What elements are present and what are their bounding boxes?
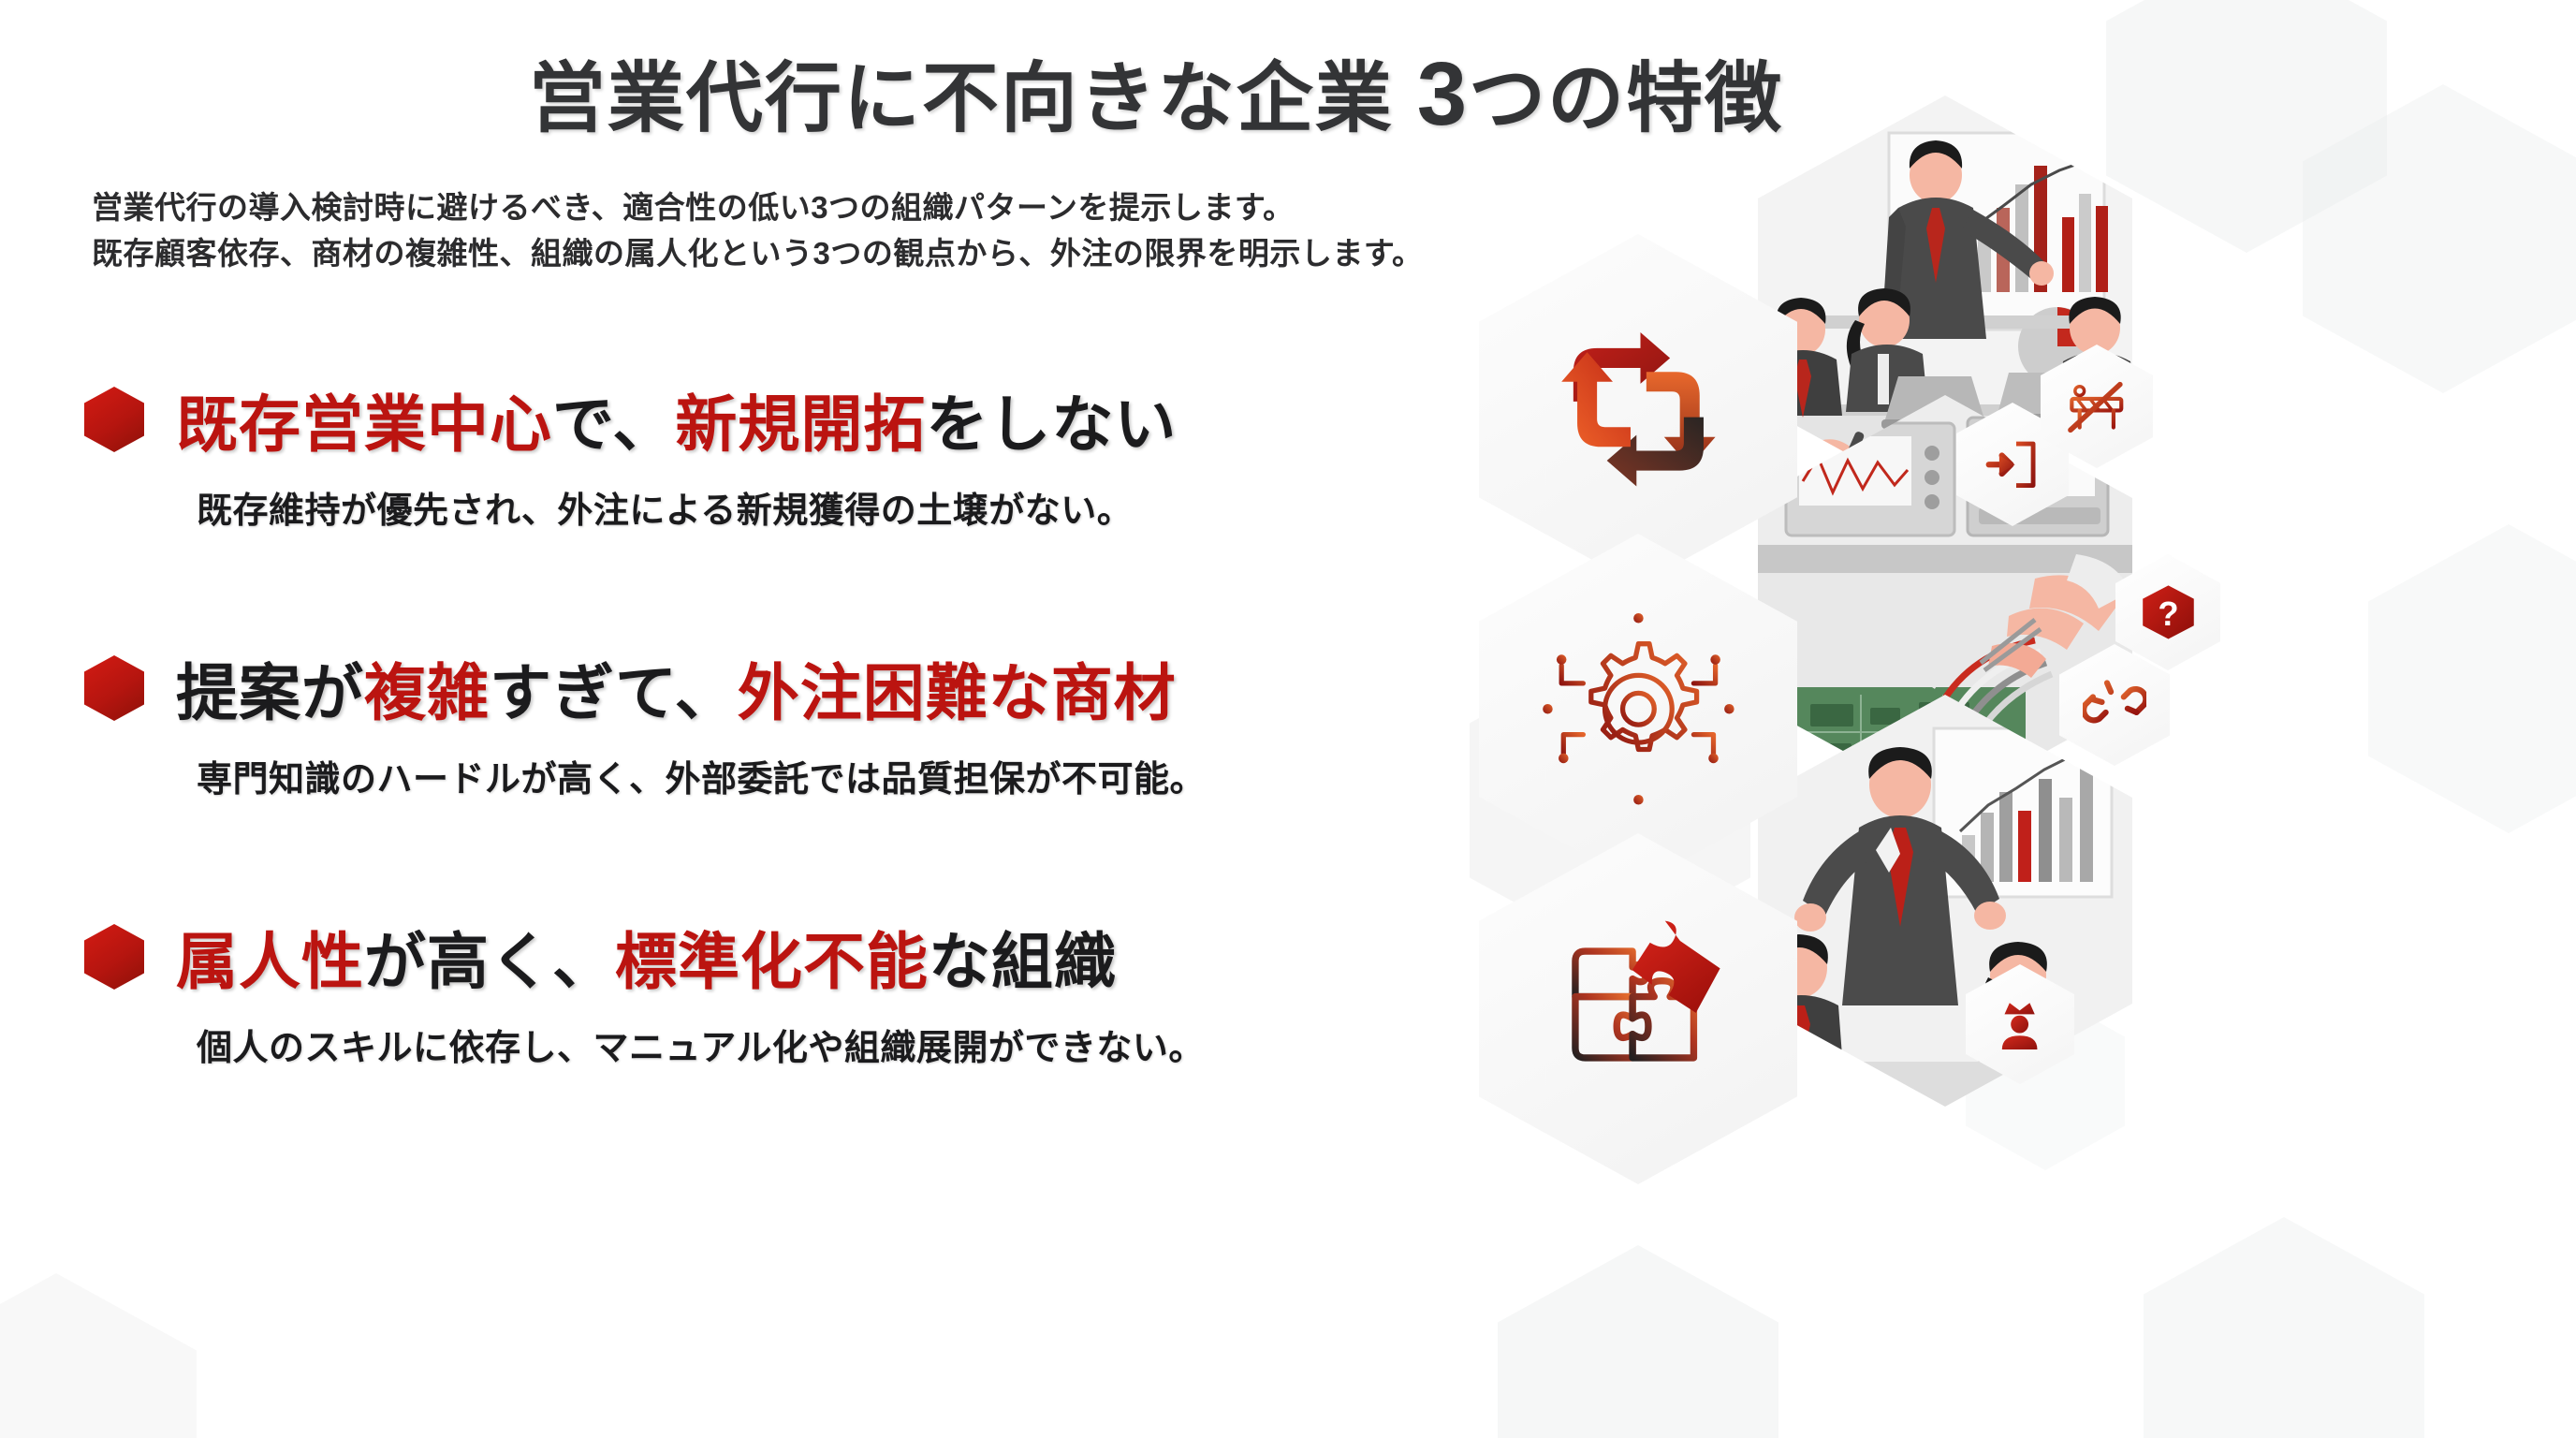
point-1-headline: 既存営業中心で、新規開拓をしない bbox=[176, 374, 1177, 464]
point-2-description: 専門知識のハードルが高く、外部委託では品質担保が不可能。 bbox=[197, 750, 1544, 801]
point-2-headline: 提案が複雑すぎて、外注困難な商材 bbox=[176, 643, 1177, 733]
point-2-part-1: 提案が bbox=[176, 658, 364, 727]
point-item-3: 属人性が高く、標準化不能な組織 個人のスキルに依存し、マニュアル化や組織展開がで… bbox=[84, 912, 1544, 1070]
point-3-headline: 属人性が高く、標準化不能な組織 bbox=[176, 912, 1117, 1002]
slide-title-main: 営業代行に不向きな企業 bbox=[529, 56, 1394, 141]
point-3-part-2: が高く、 bbox=[364, 927, 615, 996]
hexagon-bullet-icon bbox=[84, 924, 144, 990]
gear-circuit-icon bbox=[1479, 534, 1797, 885]
subtitle-line-1: 営業代行の導入検討時に避けるべき、適合性の低い3つの組織パターンを提示します。 bbox=[92, 185, 1424, 231]
point-2-part-3: すぎて、 bbox=[490, 658, 738, 727]
point-2-part-4: 外注困難な商材 bbox=[738, 658, 1177, 727]
point-item-2: 提案が複雑すぎて、外注困難な商材 専門知識のハードルが高く、外部委託では品質担保… bbox=[84, 643, 1544, 801]
point-2-part-2: 複雑 bbox=[364, 658, 490, 727]
point-1-part-3: 新規開拓 bbox=[675, 389, 926, 459]
cycle-arrows-icon bbox=[1479, 234, 1797, 585]
point-1-part-2: で、 bbox=[552, 389, 675, 459]
point-3-part-1: 属人性 bbox=[176, 927, 364, 996]
watermark-hexagon bbox=[0, 1273, 197, 1438]
point-1-part-1: 既存営業中心 bbox=[176, 389, 552, 459]
point-3-description: 個人のスキルに依存し、マニュアル化や組織展開ができない。 bbox=[197, 1019, 1544, 1070]
point-1-part-4: をしない bbox=[926, 389, 1177, 459]
hexagon-bullet-icon bbox=[84, 387, 144, 452]
point-1-description: 既存維持が優先され、外注による新規獲得の土壌がない。 bbox=[197, 481, 1544, 533]
team-discussion-photo bbox=[1758, 695, 2132, 1107]
hexagon-image-cluster: ? bbox=[1460, 131, 2565, 1376]
slide-title-number: 3 bbox=[1417, 44, 1469, 144]
subtitle-line-2: 既存顧客依存、商材の複雑性、組織の属人化という3つの観点から、外注の限界を明示し… bbox=[92, 231, 1424, 277]
svg-text:?: ? bbox=[2158, 594, 2178, 633]
point-3-part-4: な組織 bbox=[929, 927, 1117, 996]
point-2-heading-row: 提案が複雑すぎて、外注困難な商材 bbox=[84, 643, 1544, 733]
point-item-1: 既存営業中心で、新規開拓をしない 既存維持が優先され、外注による新規獲得の土壌が… bbox=[84, 374, 1544, 533]
points-list: 既存営業中心で、新規開拓をしない 既存維持が優先され、外注による新規獲得の土壌が… bbox=[84, 374, 1544, 1070]
point-1-heading-row: 既存営業中心で、新規開拓をしない bbox=[84, 374, 1544, 464]
point-3-part-3: 標準化不能 bbox=[615, 927, 929, 996]
puzzle-pieces-icon bbox=[1479, 833, 1797, 1184]
point-3-heading-row: 属人性が高く、標準化不能な組織 bbox=[84, 912, 1544, 1002]
slide-title-tail: つの特徴 bbox=[1469, 56, 1783, 141]
slide-subtitle: 営業代行の導入検討時に避けるべき、適合性の低い3つの組織パターンを提示します。 … bbox=[92, 185, 1424, 277]
hexagon-bullet-icon bbox=[84, 655, 144, 721]
